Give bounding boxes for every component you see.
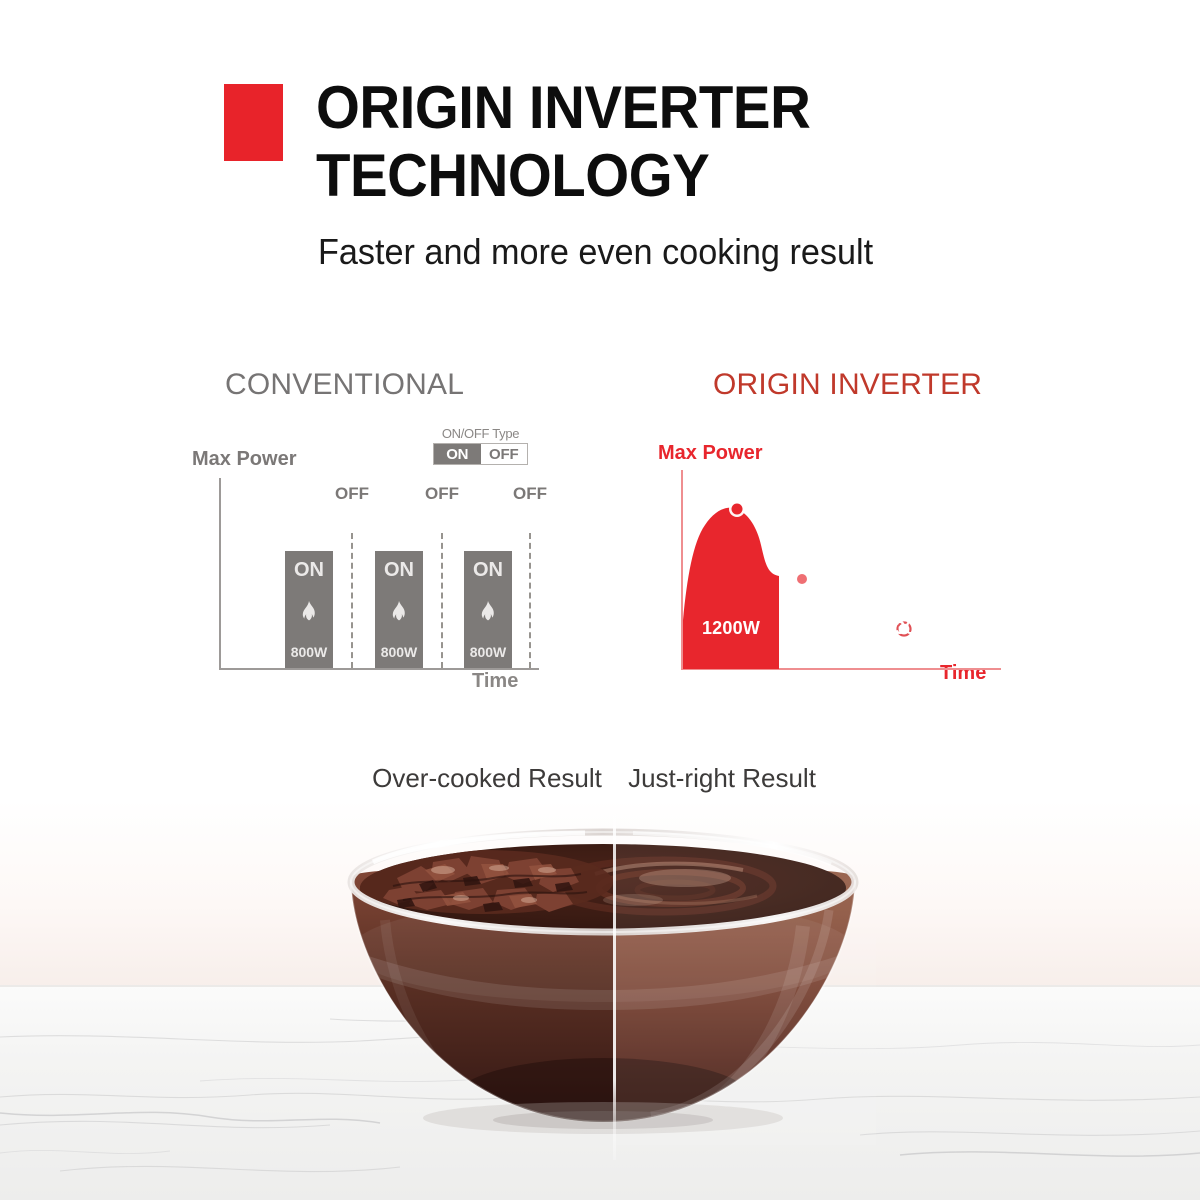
result-label-overcooked: Over-cooked Result bbox=[372, 763, 602, 794]
inverter-heading: ORIGIN INVERTER bbox=[713, 368, 982, 402]
on-cycle-block: ON 800W bbox=[375, 551, 423, 668]
conventional-chart-panel: CONVENTIONAL Max Power Time ON/OFF Type … bbox=[180, 330, 580, 730]
off-divider bbox=[529, 533, 532, 668]
header: ORIGIN INVERTER TECHNOLOGY Faster and mo… bbox=[0, 0, 1200, 300]
conventional-plot-area: OFF OFF OFF ON 800W ON bbox=[219, 478, 539, 670]
on-cycle-block: ON 800W bbox=[464, 551, 512, 668]
off-label: OFF bbox=[425, 484, 459, 504]
on-state-label: ON bbox=[473, 560, 503, 580]
subtitle: Faster and more even cooking result bbox=[318, 231, 873, 273]
chocolate-bowl-photo bbox=[0, 800, 1200, 1200]
onoff-type-badge: ON/OFF Type ON OFF bbox=[433, 426, 528, 465]
off-divider bbox=[351, 533, 354, 668]
conventional-y-axis bbox=[219, 478, 221, 670]
onoff-type-label: ON/OFF Type bbox=[433, 426, 528, 441]
comparison-divider bbox=[613, 800, 616, 1160]
power-value-label: 800W bbox=[470, 645, 507, 659]
conventional-heading: CONVENTIONAL bbox=[225, 368, 464, 402]
inverter-y-axis-label: Max Power bbox=[658, 442, 762, 465]
on-state-label: ON bbox=[294, 560, 324, 580]
band-label-1200w: 1200W bbox=[702, 618, 760, 639]
off-label: OFF bbox=[513, 484, 547, 504]
on-state-label: ON bbox=[384, 560, 414, 580]
power-value-label: 800W bbox=[381, 645, 418, 659]
toggle-segment-on[interactable]: ON bbox=[434, 444, 481, 464]
toggle-segment-off[interactable]: OFF bbox=[481, 444, 528, 464]
inverter-plot-area: 1200W 800W 300W bbox=[681, 470, 1001, 670]
conventional-y-axis-label: Max Power bbox=[192, 448, 296, 471]
inverter-power-curve bbox=[683, 470, 1003, 669]
band-label-800w: 800W bbox=[800, 618, 848, 639]
on-cycle-block: ON 800W bbox=[285, 551, 333, 668]
onoff-toggle[interactable]: ON OFF bbox=[433, 443, 528, 465]
result-label-justright: Just-right Result bbox=[628, 763, 816, 794]
off-label: OFF bbox=[335, 484, 369, 504]
bowl-graphic bbox=[333, 800, 873, 1140]
glass-bowl bbox=[333, 800, 873, 1130]
title-line-2: TECHNOLOGY bbox=[316, 146, 1124, 206]
off-divider bbox=[441, 533, 444, 668]
band-label-300w: 300W bbox=[895, 618, 943, 639]
comparison-charts: CONVENTIONAL Max Power Time ON/OFF Type … bbox=[0, 330, 1200, 740]
page-title: ORIGIN INVERTER TECHNOLOGY bbox=[316, 78, 1176, 206]
flame-icon bbox=[299, 601, 319, 625]
infographic-page: ORIGIN INVERTER TECHNOLOGY Faster and mo… bbox=[0, 0, 1200, 1200]
accent-square bbox=[224, 84, 283, 161]
title-line-1: ORIGIN INVERTER bbox=[316, 78, 1124, 138]
inverter-chart-panel: ORIGIN INVERTER Max Power Time bbox=[640, 330, 1040, 730]
flame-icon bbox=[389, 601, 409, 625]
conventional-x-axis-label: Time bbox=[472, 670, 518, 693]
power-value-label: 800W bbox=[291, 645, 328, 659]
flame-icon bbox=[478, 601, 498, 625]
conventional-x-axis bbox=[219, 668, 539, 670]
